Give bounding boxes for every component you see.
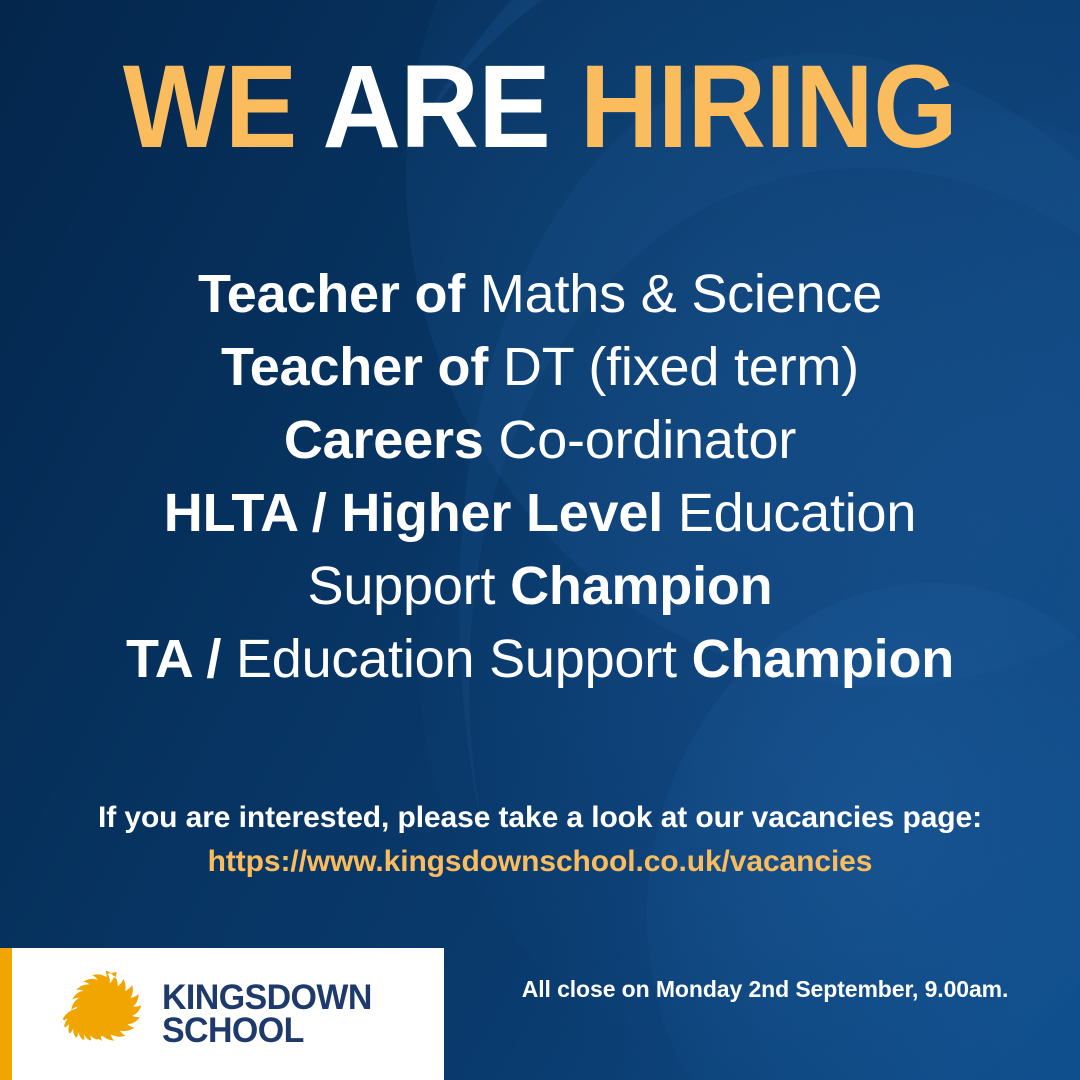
vacancy-role-regular: Co-ordinator [498,410,796,470]
headline-word-we: WE [123,41,323,173]
vacancy-role-regular: Support [308,556,511,616]
vacancy-role-bold: Teacher of [221,337,503,397]
vacancies-page-url[interactable]: https://www.kingsdownschool.co.uk/vacanc… [0,840,1080,884]
vacancy-role-regular: Education Support [236,629,692,689]
vacancy-role-bold: Careers [284,410,499,470]
logo-wordmark: KINGSDOWN SCHOOL [162,981,378,1047]
vacancy-item: Teacher of DT (fixed term) [0,331,1080,404]
vacancy-item: Teacher of Maths & Science [0,258,1080,331]
headline-word-are: ARE [322,41,580,173]
vacancy-role-bold: Teacher of [198,264,480,324]
vacancy-role-bold: TA / [126,629,236,689]
headline: WE ARE HIRING [43,48,1037,166]
vacancy-list: Teacher of Maths & Science Teacher of DT… [0,258,1080,696]
vacancy-item-continuation: Support Champion [0,550,1080,623]
logo-word-school: SCHOOL [162,1014,372,1047]
logo-content: KINGSDOWN SCHOOL [52,971,378,1057]
vacancy-item: Careers Co-ordinator [0,404,1080,477]
call-to-action: If you are interested, please take a loo… [0,796,1080,884]
vacancy-item: TA / Education Support Champion [0,623,1080,696]
vacancy-role-regular: DT (fixed term) [503,337,859,397]
vacancy-role-bold: Champion [510,556,772,616]
cta-message: If you are interested, please take a loo… [0,796,1080,840]
logo-accent-stripe [0,948,12,1080]
logo-word-kingsdown: KINGSDOWN [162,981,372,1014]
vacancy-role-bold: Champion [692,629,954,689]
vacancy-role-regular: Education [678,483,916,543]
closing-date: All close on Monday 2nd September, 9.00a… [470,976,1060,1003]
hiring-poster: WE ARE HIRING Teacher of Maths & Science… [0,0,1080,1080]
vacancy-item: HLTA / Higher Level Education [0,477,1080,550]
vacancy-role-regular: Maths & Science [480,264,882,324]
lion-head-icon [52,971,144,1057]
headline-word-hiring: HIRING [580,41,957,173]
school-logo-panel: KINGSDOWN SCHOOL [0,948,444,1080]
vacancy-role-bold: HLTA / Higher Level [164,483,678,543]
